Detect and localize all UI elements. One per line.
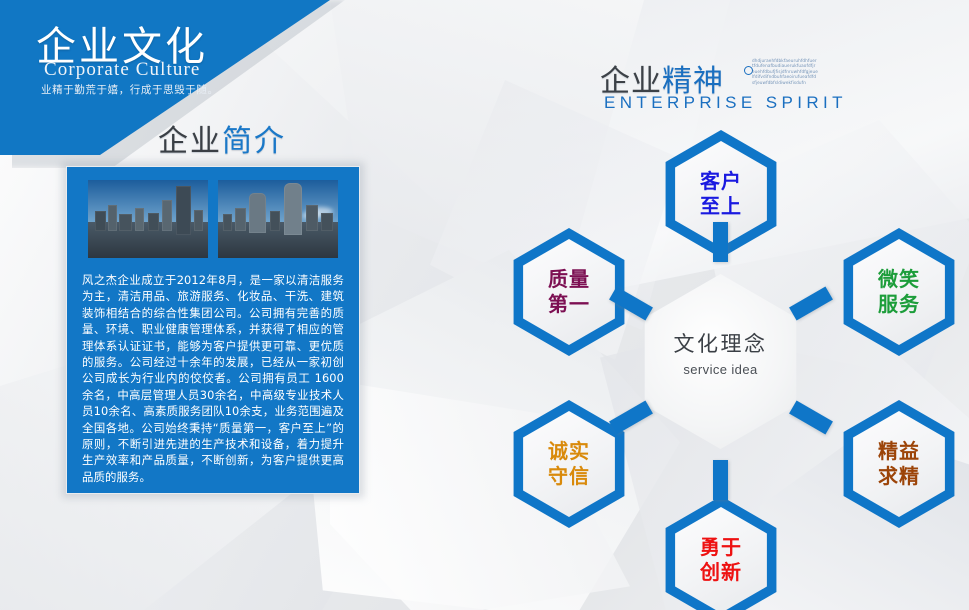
photo2-tower-2 (235, 208, 246, 231)
hex-excellence-line1: 精益 (878, 439, 920, 464)
slide-canvas: 企业文化 Corporate Culture 业精于勤荒于嬉，行成于思毁于随。 … (0, 0, 969, 610)
spirit-decorative-microtext: dhdjuraehfdbkfaeuruhfdhfuertfdufenafbudi… (752, 58, 818, 88)
city-skyline-photo-2 (218, 180, 338, 258)
banner-title-en: Corporate Culture (44, 59, 200, 81)
photo1-tower-2 (108, 205, 116, 232)
hex-smile-service-label: 微笑 服务 (835, 228, 963, 356)
photo2-tower-6 (306, 205, 318, 232)
hex-quality-first-line2: 第一 (548, 292, 590, 317)
center-title-cn: 文化理念 (633, 328, 808, 358)
hex-innovation-line2: 创新 (700, 560, 742, 585)
photo2-tower-1 (223, 214, 233, 231)
photo2-tower-5 (284, 183, 302, 234)
hex-smile-service-line1: 微笑 (878, 267, 920, 292)
intro-title-blue: 简介 (222, 124, 286, 159)
photo1-tower-1 (95, 211, 106, 231)
photo2-tower-4 (270, 211, 281, 231)
connector-top (713, 222, 728, 262)
photo1-tower-7 (176, 186, 192, 234)
hex-excellence[interactable]: 精益 求精 (835, 400, 963, 528)
intro-section-title: 企业简介 (158, 116, 286, 160)
photo1-tower-8 (194, 210, 204, 232)
culture-idea-center: 文化理念 service idea (633, 274, 808, 449)
banner-subtitle: 业精于勤荒于嬉，行成于思毁于随。 (41, 82, 219, 97)
hex-innovation[interactable]: 勇于 创新 (657, 496, 785, 610)
city-skyline-photo-1 (88, 180, 208, 258)
hex-innovation-label: 勇于 创新 (657, 496, 785, 610)
hex-integrity-line2: 守信 (548, 464, 590, 489)
intro-title-dark: 企业 (158, 124, 222, 159)
intro-body-text: 风之杰企业成立于2012年8月，是一家以清洁服务为主，清洁用品、旅游服务、化妆品… (82, 272, 344, 485)
hex-customer-first-line2: 至上 (700, 194, 742, 219)
hex-customer-first-line1: 客户 (700, 169, 742, 194)
hex-quality-first-line1: 质量 (548, 267, 590, 292)
photo1-tower-4 (135, 208, 145, 231)
photo2-tower-7 (321, 213, 333, 232)
hex-smile-service-line2: 服务 (878, 292, 920, 317)
center-title-en: service idea (633, 362, 808, 377)
intro-photo-row (88, 180, 338, 258)
culture-hexagon-cluster: 文化理念 service idea 客户 至上 微笑 服务 (480, 110, 969, 610)
hex-integrity-line1: 诚实 (548, 439, 590, 464)
hex-excellence-label: 精益 求精 (835, 400, 963, 528)
photo2-tower-3 (249, 193, 266, 234)
connector-bottom (713, 460, 728, 500)
photo1-tower-3 (119, 214, 132, 231)
photo1-tower-5 (148, 213, 159, 232)
spirit-title-en: ENTERPRISE SPIRIT (604, 93, 847, 113)
hex-innovation-line1: 勇于 (700, 535, 742, 560)
hex-smile-service[interactable]: 微笑 服务 (835, 228, 963, 356)
hex-excellence-line2: 求精 (878, 464, 920, 489)
photo1-tower-6 (162, 200, 172, 231)
